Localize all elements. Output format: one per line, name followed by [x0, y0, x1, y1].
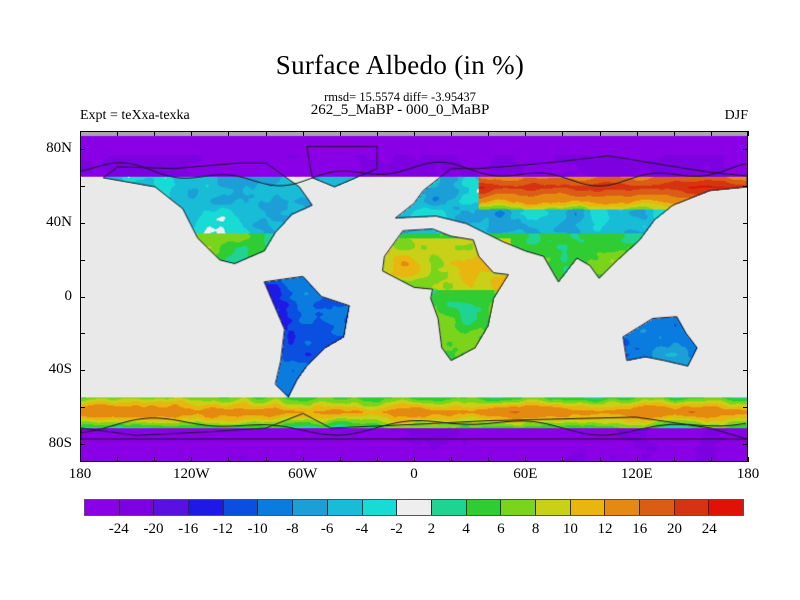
y-tick — [80, 260, 85, 261]
x-tick — [600, 457, 601, 462]
x-tick — [154, 457, 155, 462]
colorbar-segment — [189, 500, 224, 515]
colorbar-segment — [536, 500, 571, 515]
colorbar-segment — [363, 500, 398, 515]
y-tick — [743, 370, 748, 371]
colorbar-segment — [467, 500, 502, 515]
x-tick — [414, 457, 415, 462]
y-tick-label: 40N — [28, 214, 72, 231]
x-tick — [340, 457, 341, 462]
y-tick — [743, 407, 748, 408]
x-tick-label: 0 — [379, 466, 449, 483]
colorbar-tick-label: 24 — [687, 521, 731, 538]
x-tick — [377, 131, 378, 136]
x-tick — [562, 131, 563, 136]
y-tick — [743, 333, 748, 334]
x-tick — [674, 131, 675, 136]
x-tick — [117, 457, 118, 462]
x-tick — [117, 131, 118, 136]
y-tick — [743, 223, 748, 224]
colorbar-segment — [605, 500, 640, 515]
x-tick — [414, 131, 415, 136]
x-tick — [748, 131, 749, 136]
colorbar-segment — [571, 500, 606, 515]
x-tick — [303, 131, 304, 136]
y-tick — [80, 370, 85, 371]
map-plot-area — [80, 131, 748, 462]
x-tick — [451, 131, 452, 136]
x-tick — [80, 457, 81, 462]
colorbar-segment — [85, 500, 120, 515]
x-tick — [154, 131, 155, 136]
x-tick — [451, 457, 452, 462]
x-tick — [562, 457, 563, 462]
x-tick-label: 60W — [268, 466, 338, 483]
albedo-difference-map — [81, 132, 747, 461]
x-tick — [266, 457, 267, 462]
y-tick-label: 0 — [28, 288, 72, 305]
x-tick — [228, 131, 229, 136]
x-tick — [600, 131, 601, 136]
experiment-label: Expt = teXxa-texka — [80, 108, 190, 124]
y-tick — [80, 297, 85, 298]
y-tick — [80, 444, 85, 445]
y-tick — [80, 407, 85, 408]
x-tick-label: 120W — [156, 466, 226, 483]
y-tick — [743, 297, 748, 298]
colorbar-segment — [640, 500, 675, 515]
x-tick — [525, 457, 526, 462]
x-tick — [748, 457, 749, 462]
x-tick — [674, 457, 675, 462]
y-tick-label: 80S — [28, 435, 72, 452]
x-tick-label: 180 — [45, 466, 115, 483]
x-tick — [711, 131, 712, 136]
x-tick — [191, 457, 192, 462]
y-tick — [743, 149, 748, 150]
colorbar-segment — [709, 500, 743, 515]
x-tick — [637, 131, 638, 136]
x-tick — [525, 131, 526, 136]
season-label: DJF — [725, 108, 748, 124]
x-tick-label: 180 — [713, 466, 783, 483]
y-tick — [743, 186, 748, 187]
y-tick-label: 80N — [28, 140, 72, 157]
colorbar — [84, 499, 744, 516]
colorbar-segment — [293, 500, 328, 515]
x-tick-label: 120E — [602, 466, 672, 483]
x-tick — [377, 457, 378, 462]
colorbar-segment — [224, 500, 259, 515]
colorbar-segment — [258, 500, 293, 515]
x-tick — [340, 131, 341, 136]
x-tick — [228, 457, 229, 462]
colorbar-segment — [154, 500, 189, 515]
x-tick — [266, 131, 267, 136]
x-tick — [637, 457, 638, 462]
y-tick — [743, 260, 748, 261]
colorbar-segment — [328, 500, 363, 515]
x-tick — [711, 457, 712, 462]
page-title: Surface Albedo (in %) — [0, 50, 800, 81]
x-tick — [80, 131, 81, 136]
colorbar-segment — [675, 500, 710, 515]
colorbar-segment — [120, 500, 155, 515]
x-tick — [303, 457, 304, 462]
colorbar-segment — [501, 500, 536, 515]
x-tick-label: 60E — [490, 466, 560, 483]
x-tick — [191, 131, 192, 136]
y-tick-label: 40S — [28, 361, 72, 378]
y-tick — [743, 444, 748, 445]
colorbar-segment — [397, 500, 432, 515]
y-tick — [80, 223, 85, 224]
y-tick — [80, 149, 85, 150]
x-tick — [488, 131, 489, 136]
x-tick — [488, 457, 489, 462]
y-tick — [80, 186, 85, 187]
colorbar-segment — [432, 500, 467, 515]
y-tick — [80, 333, 85, 334]
